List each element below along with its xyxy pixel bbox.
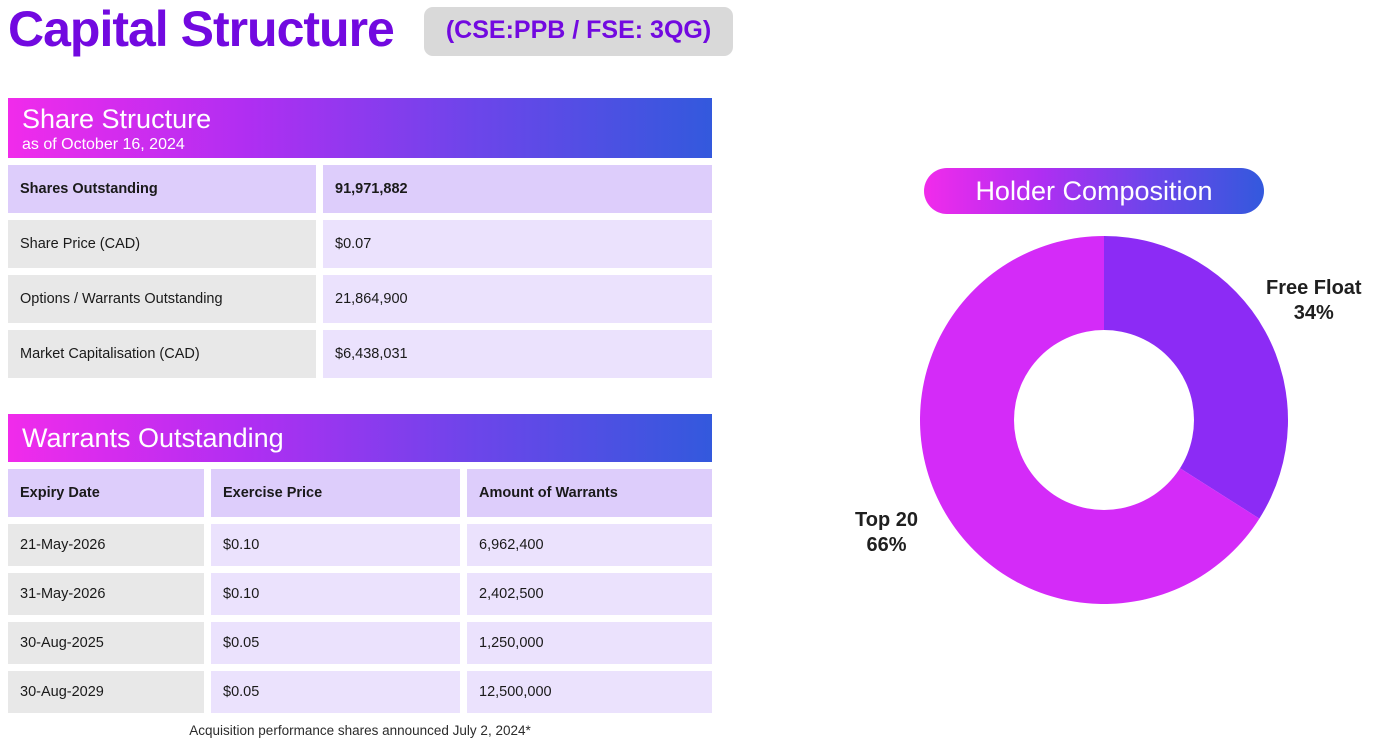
cell-expiry-date: 31-May-2026 [8,573,204,615]
cell-expiry-date: 30-Aug-2025 [8,622,204,664]
share-structure-section: Share Structure as of October 16, 2024 S… [8,98,712,378]
cell-exercise-price: $0.05 [211,671,460,713]
warrants-footnote: Acquisition performance shares announced… [8,723,712,738]
share-structure-subtitle: as of October 16, 2024 [22,135,712,154]
cell-exercise-price: $0.10 [211,573,460,615]
page-title: Capital Structure [8,2,394,57]
cell-exercise-price: $0.05 [211,622,460,664]
holder-composition-badge: Holder Composition [924,168,1264,214]
row-value: $0.07 [323,220,712,268]
table-row: 31-May-2026 $0.10 2,402,500 [8,573,712,615]
row-label: Market Capitalisation (CAD) [8,330,316,378]
warrants-table: Expiry Date Exercise Price Amount of War… [8,469,712,713]
table-row: 30-Aug-2029 $0.05 12,500,000 [8,671,712,713]
table-row: Options / Warrants Outstanding 21,864,90… [8,275,712,323]
cell-expiry-date: 30-Aug-2029 [8,671,204,713]
free-float-percent: 34% [1266,301,1362,326]
donut-label-free-float: Free Float 34% [1266,276,1362,326]
donut-hole [1014,330,1194,510]
holder-composition-donut-chart [920,236,1288,604]
table-header-row: Expiry Date Exercise Price Amount of War… [8,469,712,517]
top20-percent: 66% [855,533,918,558]
cell-exercise-price: $0.10 [211,524,460,566]
table-row: 30-Aug-2025 $0.05 1,250,000 [8,622,712,664]
row-value: $6,438,031 [323,330,712,378]
table-row: Share Price (CAD) $0.07 [8,220,712,268]
table-row: Market Capitalisation (CAD) $6,438,031 [8,330,712,378]
share-structure-table: Shares Outstanding 91,971,882 Share Pric… [8,165,712,378]
share-structure-title: Share Structure [22,104,712,135]
table-row: 21-May-2026 $0.10 6,962,400 [8,524,712,566]
top20-name: Top 20 [855,509,918,531]
donut-svg [920,236,1288,604]
cell-expiry-date: 21-May-2026 [8,524,204,566]
table-row: Shares Outstanding 91,971,882 [8,165,712,213]
row-label: Share Price (CAD) [8,220,316,268]
donut-label-top20: Top 20 66% [855,508,918,558]
cell-amount-of-warrants: 12,500,000 [467,671,712,713]
row-label: Options / Warrants Outstanding [8,275,316,323]
row-value: 21,864,900 [323,275,712,323]
column-header-amount-of-warrants: Amount of Warrants [467,469,712,517]
cell-amount-of-warrants: 1,250,000 [467,622,712,664]
warrants-header: Warrants Outstanding [8,414,712,462]
row-value: 91,971,882 [323,165,712,213]
ticker-badge: (CSE:PPB / FSE: 3QG) [424,7,733,56]
share-structure-header: Share Structure as of October 16, 2024 [8,98,712,158]
column-header-expiry-date: Expiry Date [8,469,204,517]
cell-amount-of-warrants: 2,402,500 [467,573,712,615]
column-header-exercise-price: Exercise Price [211,469,460,517]
warrants-section: Warrants Outstanding Expiry Date Exercis… [8,414,712,738]
page-header: Capital Structure (CSE:PPB / FSE: 3QG) [8,2,733,57]
free-float-name: Free Float [1266,277,1362,299]
row-label: Shares Outstanding [8,165,316,213]
cell-amount-of-warrants: 6,962,400 [467,524,712,566]
warrants-title: Warrants Outstanding [22,423,284,454]
